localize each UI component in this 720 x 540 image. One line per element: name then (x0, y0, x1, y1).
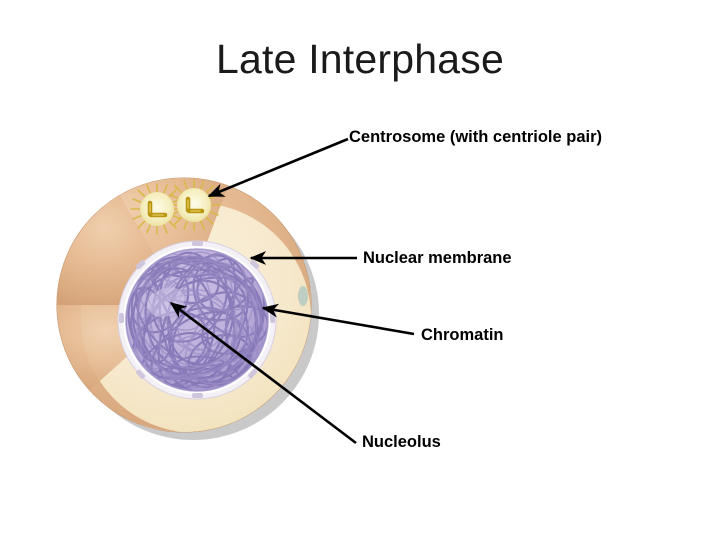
label-chromatin: Chromatin (421, 327, 504, 344)
organelle-speck (298, 286, 308, 306)
label-centrosome: Centrosome (with centriole pair) (349, 129, 602, 146)
slide-canvas: Late Interphase (0, 0, 720, 540)
cell-diagram (0, 0, 720, 540)
aster-body-right (177, 188, 211, 222)
label-nucleolus: Nucleolus (362, 434, 441, 451)
label-nuclear-membrane: Nuclear membrane (363, 250, 512, 267)
aster-body-left (140, 192, 174, 226)
centrosome-callout-line (209, 139, 348, 196)
